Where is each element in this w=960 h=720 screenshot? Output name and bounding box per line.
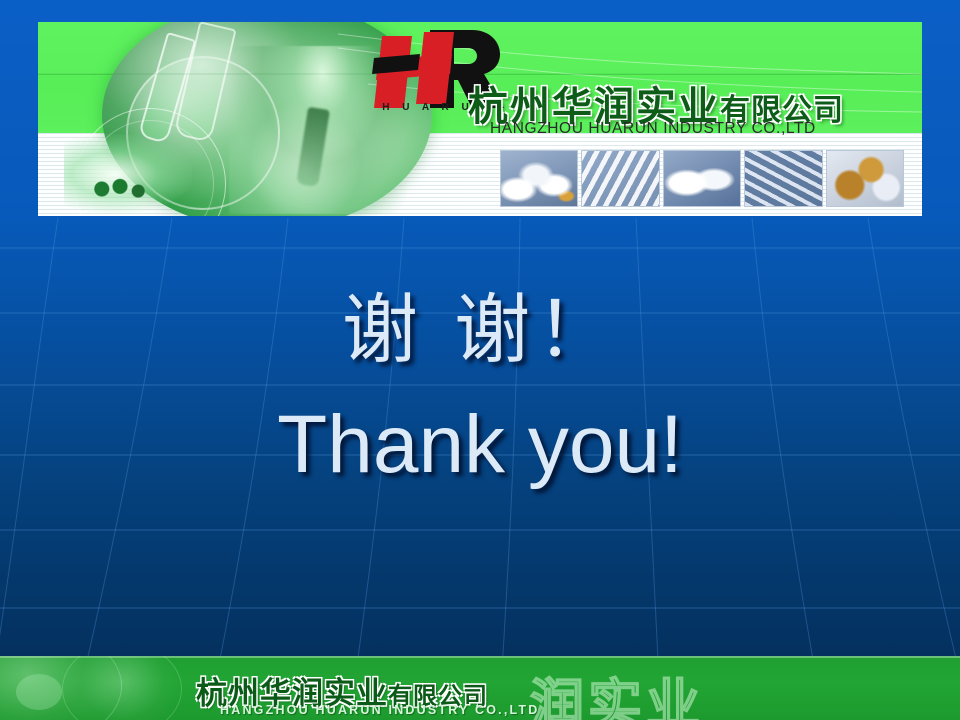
bubble-shape: [16, 674, 62, 710]
slide-canvas: H U A R U N 杭州华润实业有限公司 HANGZHOU HUARUN I…: [0, 0, 960, 720]
gloved-hand-shape: [64, 134, 192, 214]
product-tile-bottles: [500, 150, 578, 207]
product-photo-strip: [500, 150, 904, 207]
banner-company-name-en: HANGZHOU HUARUN INDUSTRY CO.,LTD: [490, 120, 816, 138]
footer-bubble-decoration: [0, 656, 220, 720]
product-tile-syringes: [581, 150, 659, 207]
thank-you-title-cn: 谢 谢！: [0, 292, 960, 368]
company-banner: H U A R U N 杭州华润实业有限公司 HANGZHOU HUARUN I…: [38, 22, 922, 216]
footer-ghost-watermark: 润实业: [530, 660, 704, 720]
capsules-icon: [92, 176, 162, 202]
product-tile-dropper-bottles: [663, 150, 741, 207]
thank-you-title-en: Thank you!: [0, 404, 960, 486]
footer-company-name-en: HANGZHOU HUARUN INDUSTRY CO.,LTD: [220, 703, 539, 717]
footer-band: 润实业 杭州华润实业有限公司 HANGZHOU HUARUN INDUSTRY …: [0, 656, 960, 720]
bubble-shape: [62, 656, 182, 720]
product-tile-syringe-parts: [744, 150, 822, 207]
product-tile-amber-caps: [826, 150, 904, 207]
